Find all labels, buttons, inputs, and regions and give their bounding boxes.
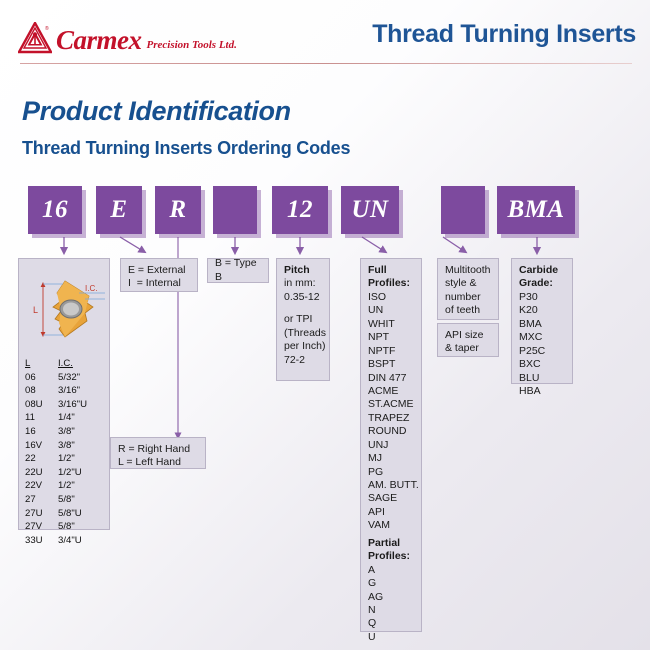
- hand-direction-box: R = Right Hand L = Left Hand: [110, 437, 206, 469]
- dimension-cell-l: 08U: [25, 398, 58, 412]
- multitooth-box: Multitooth style & number of teeth: [437, 258, 499, 320]
- pitch-box: Pitch in mm: 0.35-12 or TPI (Threads per…: [276, 258, 330, 381]
- pitch-threads-label: (Threads: [284, 327, 322, 340]
- internal-label: I = Internal: [128, 277, 190, 290]
- list-item: VAM: [368, 519, 414, 532]
- svg-text:®: ®: [45, 25, 49, 32]
- api-size-line-1: API size: [445, 329, 491, 342]
- dimension-header-l: L: [25, 357, 58, 371]
- partial-profiles-list: AGAGNQU: [368, 564, 414, 645]
- header-title: Thread Turning Inserts: [372, 20, 636, 49]
- list-item: DIN 477: [368, 372, 414, 385]
- external-label: E = External: [128, 264, 190, 277]
- list-item: P25C: [519, 345, 565, 358]
- pitch-per-inch-label: per Inch): [284, 340, 322, 353]
- table-row: 27U5/8"U: [25, 507, 107, 521]
- dimension-cell-l: 22: [25, 452, 58, 466]
- company-logo: ® Carmex Precision Tools Ltd.: [18, 22, 237, 54]
- partial-profiles-title-1: Partial: [368, 537, 414, 550]
- list-item: NPTF: [368, 345, 414, 358]
- list-item: UNJ: [368, 439, 414, 452]
- table-row: 27V5/8": [25, 520, 107, 534]
- pitch-spacer: [284, 304, 322, 313]
- pitch-range-mm: 0.35-12: [284, 291, 322, 304]
- dimension-cell-ic: 3/8": [58, 425, 106, 439]
- list-item: API: [368, 506, 414, 519]
- list-item: ST.ACME: [368, 398, 414, 411]
- multitooth-line-1: Multitooth: [445, 264, 491, 277]
- dimension-cell-l: 22V: [25, 479, 58, 493]
- table-row: 22V1/2": [25, 479, 107, 493]
- list-item: BXC: [519, 358, 565, 371]
- dimension-cell-l: 27: [25, 493, 58, 507]
- dimension-cell-ic: 5/8": [58, 520, 106, 534]
- list-item: UN: [368, 304, 414, 317]
- dimension-cell-ic: 1/2": [58, 452, 106, 466]
- table-row: 083/16": [25, 384, 107, 398]
- full-profiles-title-1: Full: [368, 264, 414, 277]
- profiles-box: Full Profiles: ISOUNWHITNPTNPTFBSPTDIN 4…: [360, 258, 422, 632]
- table-row: 16V3/8": [25, 439, 107, 453]
- list-item: SAGE: [368, 492, 414, 505]
- list-item: MJ: [368, 452, 414, 465]
- list-item: BMA: [519, 318, 565, 331]
- api-size-box: API size & taper: [437, 323, 499, 357]
- list-item: AM. BUTT.: [368, 479, 414, 492]
- dimension-cell-l: 16V: [25, 439, 58, 453]
- dimension-cell-l: 16: [25, 425, 58, 439]
- left-hand-label: L = Left Hand: [118, 456, 198, 469]
- pitch-unit-mm: in mm:: [284, 277, 322, 290]
- dimension-cell-ic: 1/4": [58, 411, 106, 425]
- page-subtitle: Thread Turning Inserts Ordering Codes: [22, 138, 350, 159]
- dimension-cell-ic: 5/32": [58, 371, 106, 385]
- dimension-cell-ic: 1/2": [58, 479, 106, 493]
- code-box-grade[interactable]: BMA: [497, 186, 575, 234]
- list-item: BSPT: [368, 358, 414, 371]
- dimension-cell-l: 11: [25, 411, 58, 425]
- header-divider: [20, 63, 632, 64]
- table-row: 065/32": [25, 371, 107, 385]
- dimension-header-ic: I.C.: [58, 357, 106, 371]
- list-item: HBA: [519, 385, 565, 398]
- dimension-cell-l: 27V: [25, 520, 58, 534]
- pitch-range-tpi: 72-2: [284, 354, 322, 367]
- list-item: MXC: [519, 331, 565, 344]
- carbide-grade-title-1: Carbide: [519, 264, 565, 277]
- code-box-direction-label: R: [169, 196, 186, 224]
- list-item: PG: [368, 466, 414, 479]
- code-box-profile-label: UN: [351, 196, 388, 224]
- list-item: ISO: [368, 291, 414, 304]
- code-box-direction[interactable]: R: [155, 186, 201, 234]
- dimension-cell-l: 33U: [25, 534, 58, 548]
- table-row: 275/8": [25, 493, 107, 507]
- table-row: 22U1/2"U: [25, 466, 107, 480]
- table-row: 33U3/4"U: [25, 534, 107, 548]
- list-item: WHIT: [368, 318, 414, 331]
- list-item: G: [368, 577, 414, 590]
- insert-dimension-panel: L I.C. L I.C. 065/32"083/16"08U3/16"U111…: [18, 258, 110, 530]
- code-box-handed-label: E: [110, 196, 127, 224]
- code-box-pitch-label: 12: [287, 196, 313, 224]
- carbide-grade-box: Carbide Grade: P30K20BMAMXCP25CBXCBLUHBA: [511, 258, 573, 384]
- list-item: K20: [519, 304, 565, 317]
- code-box-handed[interactable]: E: [96, 186, 142, 234]
- dimension-cell-l: 22U: [25, 466, 58, 480]
- dimension-table: L I.C. 065/32"083/16"08U3/16"U111/4"163/…: [25, 357, 107, 548]
- code-box-size-label: 16: [42, 196, 68, 224]
- list-item: AG: [368, 591, 414, 604]
- type-box: B = Type B: [207, 258, 269, 283]
- code-box-grade-label: BMA: [507, 196, 564, 224]
- dimension-cell-ic: 5/8": [58, 493, 106, 507]
- type-label: B = Type B: [215, 257, 261, 284]
- code-box-pitch[interactable]: 12: [272, 186, 328, 234]
- list-item: U: [368, 631, 414, 644]
- code-box-size[interactable]: 16: [28, 186, 82, 234]
- dimension-cell-ic: 5/8"U: [58, 507, 106, 521]
- list-item: ROUND: [368, 425, 414, 438]
- list-item: BLU: [519, 372, 565, 385]
- right-hand-label: R = Right Hand: [118, 443, 198, 456]
- list-item: NPT: [368, 331, 414, 344]
- dimension-cell-ic: 3/16": [58, 384, 106, 398]
- page-root: ® Carmex Precision Tools Ltd. Thread Tur…: [0, 0, 650, 650]
- brand-name: Carmex: [56, 27, 142, 54]
- multitooth-line-2: style &: [445, 277, 491, 290]
- dimension-cell-ic: 3/8": [58, 439, 106, 453]
- dimension-table-header: L I.C.: [25, 357, 107, 371]
- list-item: N: [368, 604, 414, 617]
- page-title: Product Identification: [22, 96, 291, 127]
- dimension-cell-ic: 3/16"U: [58, 398, 106, 412]
- multitooth-line-3: number: [445, 291, 491, 304]
- dimension-cell-l: 06: [25, 371, 58, 385]
- list-item: A: [368, 564, 414, 577]
- svg-text:I.C.: I.C.: [85, 284, 97, 293]
- pitch-tpi-label: or TPI: [284, 313, 322, 326]
- list-item: Q: [368, 617, 414, 630]
- list-item: TRAPEZ: [368, 412, 414, 425]
- dimension-cell-l: 27U: [25, 507, 58, 521]
- carbide-grade-title-2: Grade:: [519, 277, 565, 290]
- list-item: ACME: [368, 385, 414, 398]
- partial-profiles-title-2: Profiles:: [368, 550, 414, 563]
- list-item: P30: [519, 291, 565, 304]
- table-row: 111/4": [25, 411, 107, 425]
- api-size-line-2: & taper: [445, 342, 491, 355]
- multitooth-line-4: of teeth: [445, 304, 491, 317]
- page-header: ® Carmex Precision Tools Ltd. Thread Tur…: [0, 0, 650, 70]
- full-profiles-list: ISOUNWHITNPTNPTFBSPTDIN 477ACMEST.ACMETR…: [368, 291, 414, 533]
- pitch-title: Pitch: [284, 264, 322, 277]
- code-box-multitooth[interactable]: [441, 186, 485, 234]
- table-row: 163/8": [25, 425, 107, 439]
- external-internal-box: E = External I = Internal: [120, 258, 198, 292]
- dimension-cell-ic: 3/4"U: [58, 534, 106, 548]
- table-row: 08U3/16"U: [25, 398, 107, 412]
- full-profiles-title-2: Profiles:: [368, 277, 414, 290]
- carbide-grade-list: P30K20BMAMXCP25CBXCBLUHBA: [519, 291, 565, 399]
- code-box-profile[interactable]: UN: [341, 186, 399, 234]
- insert-geometry-icon: L I.C.: [19, 263, 111, 355]
- dimension-cell-l: 08: [25, 384, 58, 398]
- dimension-cell-ic: 1/2"U: [58, 466, 106, 480]
- table-row: 221/2": [25, 452, 107, 466]
- code-box-type[interactable]: [213, 186, 257, 234]
- brand-tagline: Precision Tools Ltd.: [147, 40, 237, 51]
- carmex-triangle-logo-icon: ®: [18, 22, 52, 54]
- svg-text:L: L: [33, 305, 38, 315]
